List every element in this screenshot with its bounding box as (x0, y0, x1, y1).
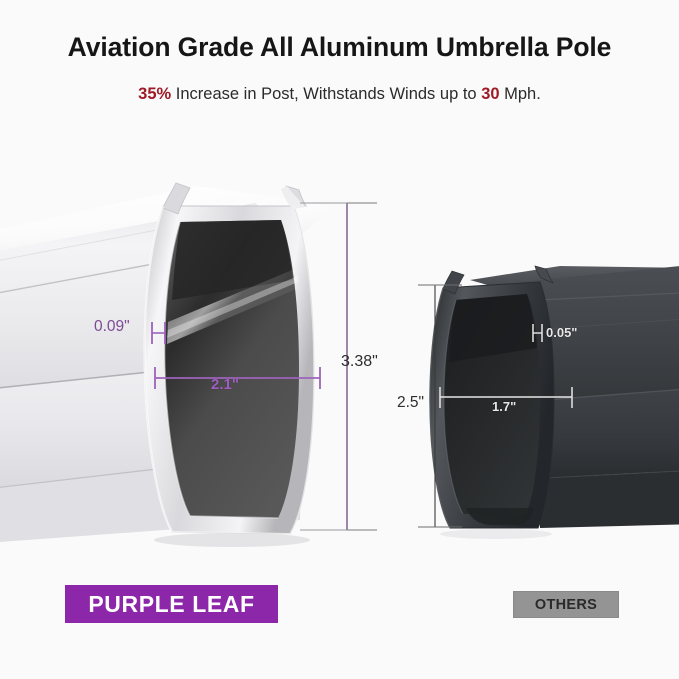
brand-badge-others: OTHERS (513, 591, 619, 618)
product-comparison-stage: 0.09" 2.1" 3.38" 0.05" 1.7" 2.5" (0, 0, 679, 679)
infographic-root: Aviation Grade All Aluminum Umbrella Pol… (0, 0, 679, 679)
left-product-illustration (0, 183, 330, 547)
right-product-illustration (430, 264, 679, 539)
brand-badge-purple-leaf: PURPLE LEAF (65, 585, 278, 623)
